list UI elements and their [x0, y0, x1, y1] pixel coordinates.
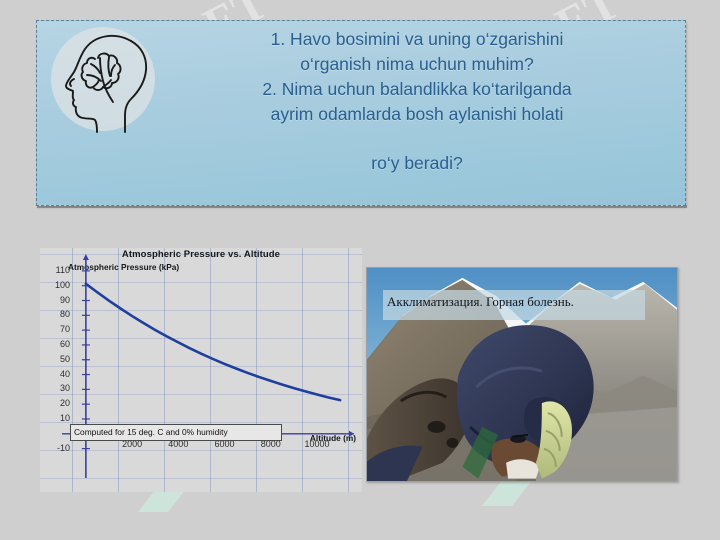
question-line-5: ro‘y beradi?: [157, 151, 677, 176]
head-brain-icon: [57, 29, 157, 133]
chart-annotation-box: Computed for 15 deg. C and 0% humidity: [70, 424, 282, 441]
slide-canvas: 1. Havo bosimini va uning o‘zgarishini o…: [0, 0, 720, 540]
question-text-block: 1. Havo bosimini va uning o‘zgarishini o…: [157, 27, 677, 176]
question-line-1: 1. Havo bosimini va uning o‘zgarishini: [157, 27, 677, 52]
chart-plot-area: [40, 248, 362, 492]
mountaineer-photo: Акклиматизация. Горная болезнь.: [366, 267, 678, 482]
question-line-2: o‘rganish nima uchun muhim?: [157, 52, 677, 77]
question-banner: 1. Havo bosimini va uning o‘zgarishini o…: [36, 20, 686, 206]
pressure-altitude-chart: Atmospheric Pressure vs. Altitude Atmosp…: [40, 248, 362, 492]
photo-caption: Акклиматизация. Горная болезнь.: [387, 294, 645, 310]
question-line-4: ayrim odamlarda bosh aylanishi holati: [157, 102, 677, 127]
question-line-3: 2. Nima uchun balandlikka ko‘tarilganda: [157, 77, 677, 102]
